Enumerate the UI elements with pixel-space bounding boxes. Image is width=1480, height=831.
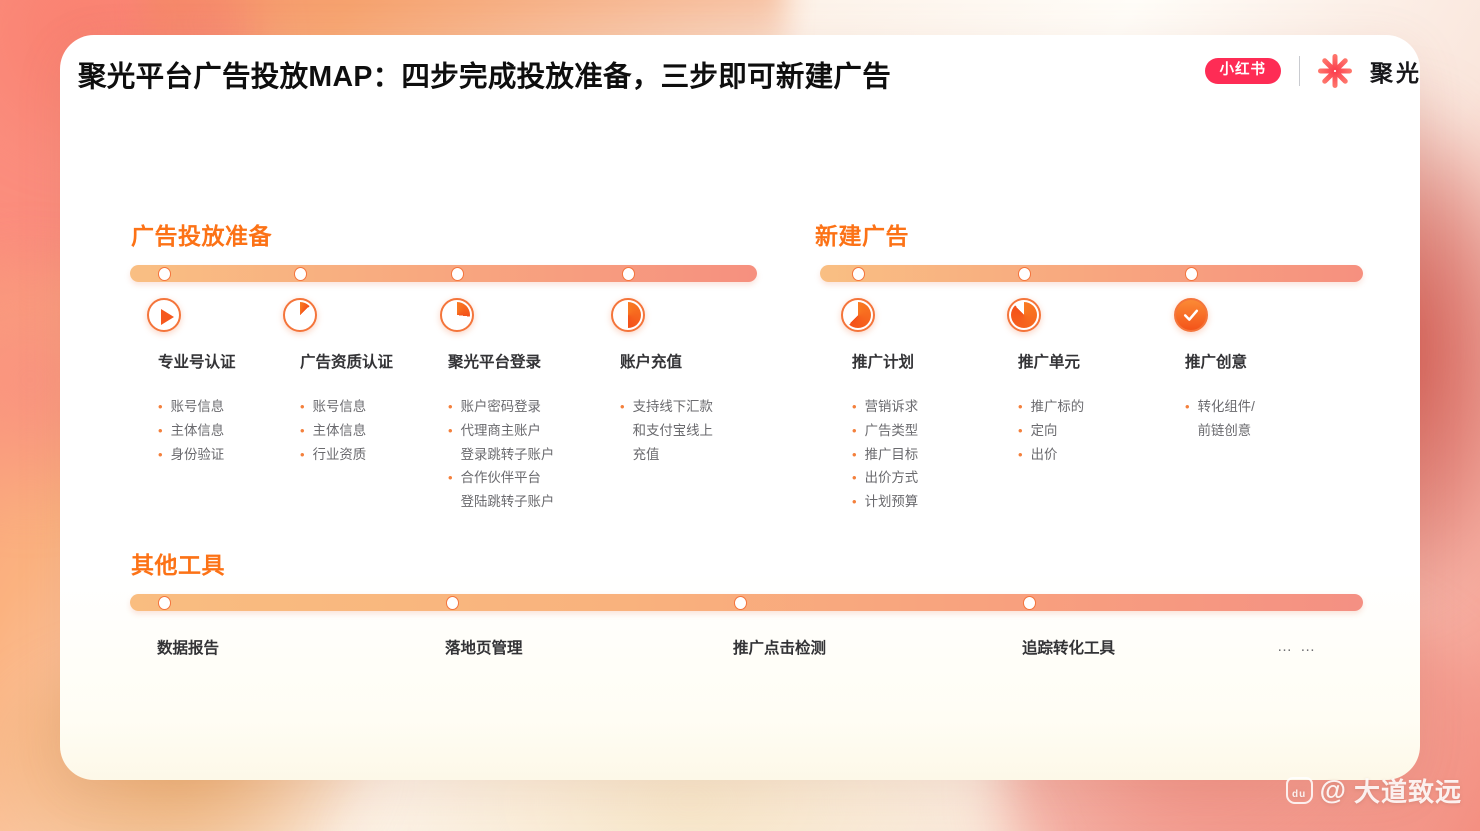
list-item-label: 行业资质 bbox=[313, 443, 367, 467]
watermark-at: @ bbox=[1320, 775, 1347, 806]
xiaohongshu-logo: 小红书 bbox=[1205, 58, 1282, 85]
check-circle-icon bbox=[1174, 298, 1208, 332]
list-item-label: 广告类型 bbox=[865, 419, 919, 443]
tool-dot[interactable] bbox=[158, 596, 171, 610]
list-item-label: 合作伙伴平台 bbox=[461, 466, 541, 490]
step-bullet-list: •账户密码登录•代理商主账户•登录跳转子账户•合作伙伴平台•登陆跳转子账户 bbox=[448, 395, 554, 514]
list-item: •合作伙伴平台 bbox=[448, 466, 554, 490]
list-item: •行业资质 bbox=[300, 443, 366, 467]
list-item-label: 身份验证 bbox=[171, 443, 225, 467]
bullet-dot: • bbox=[1185, 395, 1190, 419]
bullet-dot: • bbox=[1018, 443, 1023, 467]
list-item: •推广目标 bbox=[852, 443, 918, 467]
list-item-label: 账户密码登录 bbox=[461, 395, 541, 419]
tool-dot[interactable] bbox=[1023, 596, 1036, 610]
step-label: 专业号认证 bbox=[158, 350, 236, 372]
bullet-dot: • bbox=[852, 395, 857, 419]
list-item-label: 主体信息 bbox=[313, 419, 367, 443]
list-item-label: 营销诉求 bbox=[865, 395, 919, 419]
step-bullet-list: •营销诉求•广告类型•推广目标•出价方式•计划预算 bbox=[852, 395, 918, 514]
bullet-dot: • bbox=[448, 395, 453, 419]
starburst-icon bbox=[1318, 54, 1352, 88]
list-item: •和支付宝线上 bbox=[620, 419, 713, 443]
list-item-label: 账号信息 bbox=[313, 395, 367, 419]
list-item: •充值 bbox=[620, 443, 713, 467]
tool-dot[interactable] bbox=[734, 596, 747, 610]
bullet-dot: • bbox=[852, 466, 857, 490]
bullet-dot: • bbox=[852, 419, 857, 443]
play-icon bbox=[147, 298, 181, 332]
list-item-label: 充值 bbox=[633, 443, 660, 467]
bullet-dot: • bbox=[852, 443, 857, 467]
header: 聚光平台广告投放MAP：四步完成投放准备，三步即可新建广告 小红书 聚光 bbox=[78, 42, 1430, 112]
progress-bar-other-tools bbox=[130, 594, 1363, 611]
tool-label[interactable]: 推广点击检测 bbox=[733, 636, 826, 658]
list-item-label: 计划预算 bbox=[865, 490, 919, 514]
list-item: •前链创意 bbox=[1185, 419, 1255, 443]
tool-label[interactable]: 追踪转化工具 bbox=[1022, 636, 1115, 658]
step-bullet-list: •推广标的•定向•出价 bbox=[1018, 395, 1084, 466]
tool-dot[interactable] bbox=[446, 596, 459, 610]
list-item: •出价 bbox=[1018, 443, 1084, 467]
list-item: •定向 bbox=[1018, 419, 1084, 443]
bullet-dot: • bbox=[1018, 395, 1023, 419]
bullet-dot: • bbox=[158, 419, 163, 443]
list-item-label: 登陆跳转子账户 bbox=[461, 490, 555, 514]
section-title-new-ad: 新建广告 bbox=[815, 217, 909, 251]
step-label: 推广计划 bbox=[852, 350, 914, 372]
list-item-label: 前链创意 bbox=[1198, 419, 1252, 443]
step-label: 推广创意 bbox=[1185, 350, 1247, 372]
pie-progress-icon bbox=[841, 298, 875, 332]
step-dot[interactable] bbox=[622, 267, 635, 281]
tool-label[interactable]: 数据报告 bbox=[157, 636, 219, 658]
bullet-dot: • bbox=[158, 443, 163, 467]
list-item-label: 推广目标 bbox=[865, 443, 919, 467]
list-item-label: 登录跳转子账户 bbox=[461, 443, 555, 467]
list-item-label: 主体信息 bbox=[171, 419, 225, 443]
list-item: •营销诉求 bbox=[852, 395, 918, 419]
step-dot[interactable] bbox=[158, 267, 171, 281]
bullet-dot: • bbox=[448, 466, 453, 490]
step-dot[interactable] bbox=[1018, 267, 1031, 281]
list-item-label: 和支付宝线上 bbox=[633, 419, 713, 443]
baidu-paw-icon: du bbox=[1286, 777, 1313, 804]
step-dot[interactable] bbox=[294, 267, 307, 281]
step-dot[interactable] bbox=[1185, 267, 1198, 281]
tools-ellipsis: … … bbox=[1277, 638, 1317, 655]
list-item: •主体信息 bbox=[158, 419, 224, 443]
list-item: •登录跳转子账户 bbox=[448, 443, 554, 467]
step-bullet-list: •账号信息•主体信息•身份验证 bbox=[158, 395, 224, 466]
list-item-label: 转化组件/ bbox=[1198, 395, 1255, 419]
bullet-dot: • bbox=[300, 419, 305, 443]
step-dot[interactable] bbox=[852, 267, 865, 281]
list-item: •出价方式 bbox=[852, 466, 918, 490]
list-item-label: 账号信息 bbox=[171, 395, 225, 419]
step-label: 账户充值 bbox=[620, 350, 682, 372]
section-title-ad-prep: 广告投放准备 bbox=[131, 217, 272, 251]
list-item: •计划预算 bbox=[852, 490, 918, 514]
pie-progress-fill bbox=[615, 302, 641, 328]
bullet-dot: • bbox=[300, 395, 305, 419]
list-item: •代理商主账户 bbox=[448, 419, 554, 443]
list-item: •账户密码登录 bbox=[448, 395, 554, 419]
bullet-dot: • bbox=[158, 395, 163, 419]
list-item-label: 出价方式 bbox=[865, 466, 919, 490]
list-item: •推广标的 bbox=[1018, 395, 1084, 419]
tool-label[interactable]: 落地页管理 bbox=[445, 636, 523, 658]
progress-bar-ad-prep bbox=[130, 265, 757, 282]
pie-progress-icon bbox=[611, 298, 645, 332]
step-dot[interactable] bbox=[451, 267, 464, 281]
list-item: •支持线下汇款 bbox=[620, 395, 713, 419]
pie-progress-icon bbox=[283, 298, 317, 332]
pie-progress-fill bbox=[1011, 302, 1037, 328]
list-item: •转化组件/ bbox=[1185, 395, 1255, 419]
list-item-label: 推广标的 bbox=[1031, 395, 1085, 419]
brand-divider bbox=[1299, 56, 1300, 86]
step-label: 广告资质认证 bbox=[300, 350, 393, 372]
pie-progress-fill bbox=[845, 302, 871, 328]
pie-progress-fill bbox=[287, 302, 313, 328]
list-item-label: 代理商主账户 bbox=[461, 419, 541, 443]
step-label: 推广单元 bbox=[1018, 350, 1080, 372]
list-item: •登陆跳转子账户 bbox=[448, 490, 554, 514]
bullet-dot: • bbox=[1018, 419, 1023, 443]
list-item-label: 定向 bbox=[1031, 419, 1058, 443]
list-item-label: 支持线下汇款 bbox=[633, 395, 713, 419]
list-item: •账号信息 bbox=[158, 395, 224, 419]
bullet-dot: • bbox=[300, 443, 305, 467]
pie-progress-icon bbox=[1007, 298, 1041, 332]
bullet-dot: • bbox=[448, 419, 453, 443]
section-title-other-tools: 其他工具 bbox=[131, 546, 225, 580]
pie-progress-fill bbox=[444, 302, 470, 328]
pie-progress-icon bbox=[440, 298, 474, 332]
list-item: •身份验证 bbox=[158, 443, 224, 467]
bullet-dot: • bbox=[620, 395, 625, 419]
step-bullet-list: •支持线下汇款•和支付宝线上•充值 bbox=[620, 395, 713, 466]
list-item: •广告类型 bbox=[852, 419, 918, 443]
step-bullet-list: •账号信息•主体信息•行业资质 bbox=[300, 395, 366, 466]
step-label: 聚光平台登录 bbox=[448, 350, 541, 372]
step-bullet-list: •转化组件/•前链创意 bbox=[1185, 395, 1255, 443]
list-item-label: 出价 bbox=[1031, 443, 1058, 467]
play-triangle bbox=[161, 309, 174, 325]
watermark-name: 大道致远 bbox=[1354, 772, 1462, 809]
brand-lockup: 小红书 聚光 bbox=[1205, 54, 1423, 88]
product-name: 聚光 bbox=[1370, 54, 1422, 88]
check-mark bbox=[1176, 300, 1206, 330]
list-item: •账号信息 bbox=[300, 395, 366, 419]
watermark: du @ 大道致远 bbox=[1286, 772, 1462, 809]
progress-bar-new-ad bbox=[820, 265, 1363, 282]
list-item: •主体信息 bbox=[300, 419, 366, 443]
bullet-dot: • bbox=[852, 490, 857, 514]
